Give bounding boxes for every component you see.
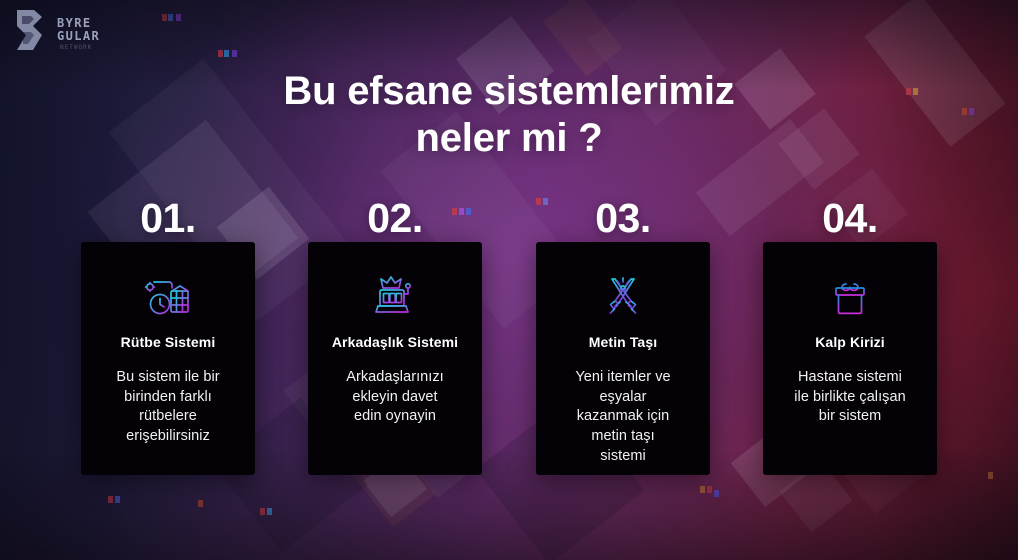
brand-logo[interactable]: BYRE GULAR NETWORK bbox=[14, 8, 100, 52]
feature-card-1[interactable]: 01. bbox=[81, 198, 255, 475]
card-description: Bu sistem ile bir birinden farklı rütbel… bbox=[116, 368, 219, 447]
card-title: Metin Taşı bbox=[589, 334, 657, 350]
brand-logo-line2: GULAR bbox=[57, 30, 100, 43]
brand-logo-text: BYRE GULAR bbox=[57, 17, 100, 43]
card-title: Rütbe Sistemi bbox=[121, 334, 216, 350]
feature-card-3[interactable]: 03. bbox=[536, 198, 710, 475]
card-number: 03. bbox=[536, 198, 710, 239]
rank-servers-clock-icon bbox=[142, 272, 194, 320]
slide-canvas: BYRE GULAR NETWORK Bu efsane sistemlerim… bbox=[0, 0, 1018, 560]
feature-card-4[interactable]: 04. bbox=[763, 198, 937, 475]
card-description: Hastane sistemi ile birlikte çalışan bir… bbox=[794, 368, 905, 427]
brand-logo-subtitle: NETWORK bbox=[60, 44, 92, 51]
card-title: Arkadaşlık Sistemi bbox=[332, 334, 458, 350]
slot-machine-crown-icon bbox=[369, 272, 421, 320]
crossed-swords-icon bbox=[597, 272, 649, 320]
card-description: Arkadaşlarınızı ekleyin davet edin oynay… bbox=[346, 368, 443, 427]
b-logo-icon bbox=[14, 8, 48, 52]
card-description: Yeni itemler ve eşyalar kazanmak için me… bbox=[575, 368, 670, 467]
feature-card-list: 01. bbox=[0, 0, 1018, 560]
card-number: 02. bbox=[308, 198, 482, 239]
card-number: 04. bbox=[763, 198, 937, 239]
card-title: Kalp Kirizi bbox=[815, 334, 885, 350]
gift-box-icon bbox=[824, 272, 876, 320]
feature-card-2[interactable]: 02. bbox=[308, 198, 482, 475]
card-number: 01. bbox=[81, 198, 255, 239]
